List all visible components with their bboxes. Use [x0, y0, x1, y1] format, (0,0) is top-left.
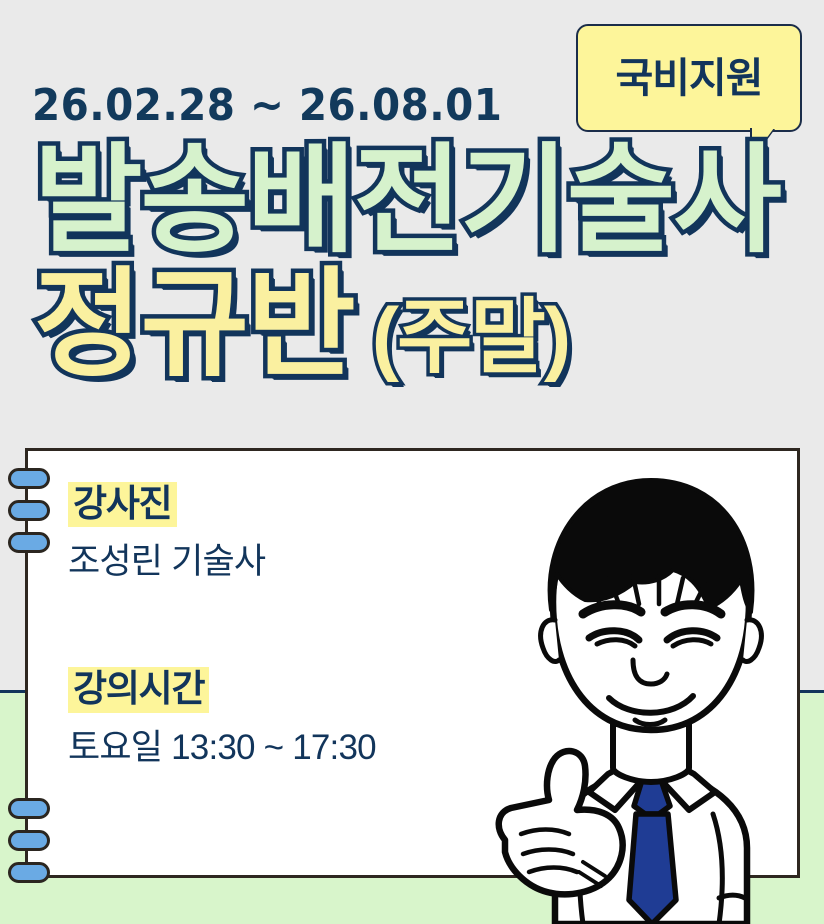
- course-class-type: 정규반: [34, 259, 354, 391]
- class-time-value: 토요일 13:30 ~ 17:30: [68, 727, 488, 769]
- binder-ring: [8, 468, 50, 489]
- binder-ring: [8, 862, 50, 883]
- binder-ring: [8, 798, 50, 819]
- course-name: 발송배전기술사: [34, 135, 780, 267]
- binder-ring: [8, 830, 50, 851]
- promo-banner: 26.02.28 ~ 26.08.01 국비지원 발송배전기술사 정규반(주말)…: [0, 0, 824, 924]
- course-title-line-2: 정규반(주말): [34, 266, 804, 384]
- binder-ring: [8, 500, 50, 521]
- instructor-value: 조성린 기술사: [68, 541, 488, 583]
- course-date-range: 26.02.28 ~ 26.08.01: [32, 84, 502, 128]
- info-card-content: 강사진 조성린 기술사 강의시간 토요일 13:30 ~ 17:30: [68, 482, 488, 769]
- instructor-label: 강사진: [68, 482, 177, 527]
- course-schedule-type: (주말): [372, 292, 570, 383]
- class-time-label: 강의시간: [68, 667, 209, 712]
- info-section-instructor: 강사진 조성린 기술사: [68, 482, 488, 583]
- course-title-line-1: 발송배전기술사: [34, 142, 804, 260]
- badge-label: 국비지원: [616, 58, 763, 99]
- info-section-class-time: 강의시간 토요일 13:30 ~ 17:30: [68, 667, 488, 768]
- binder-ring: [8, 532, 50, 553]
- course-title: 발송배전기술사 정규반(주말): [34, 142, 804, 384]
- badge-bubble-body: 국비지원: [576, 24, 802, 132]
